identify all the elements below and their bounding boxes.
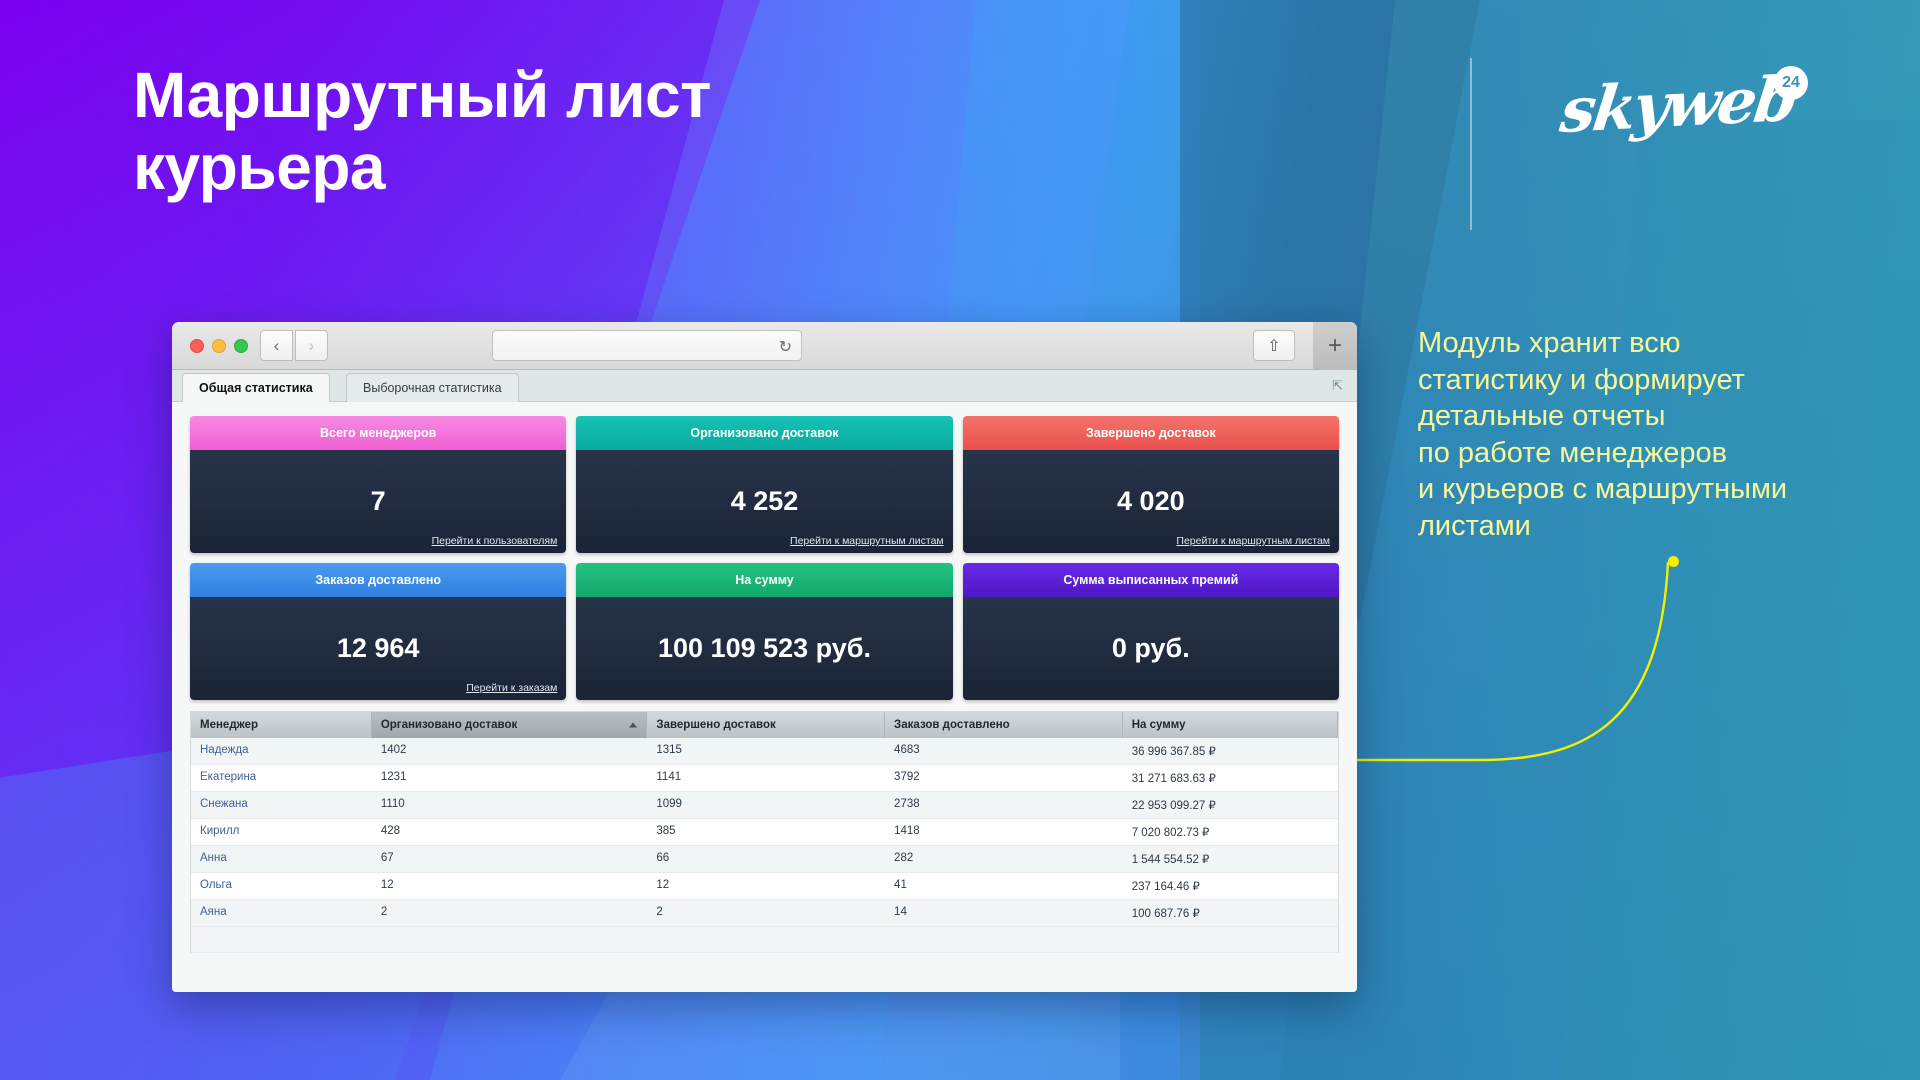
table-cell-amount: 237 164.46 ₽: [1123, 873, 1338, 899]
table-cell-orders: 1418: [885, 819, 1123, 845]
table-cell-amount: 22 953 099.27 ₽: [1123, 792, 1338, 818]
table-cell-organized: 1231: [372, 765, 648, 791]
annotation-line-5: и курьеров с маршрутными: [1418, 471, 1918, 508]
stat-card-total-amount[interactable]: На сумму 100 109 523 руб.: [576, 563, 952, 700]
stat-card-value: 100 109 523 руб.: [658, 633, 871, 664]
table-column-amount[interactable]: На сумму: [1123, 712, 1338, 738]
table-row[interactable]: Надежда14021315468336 996 367.85 ₽: [191, 738, 1338, 765]
table-cell-organized: 428: [372, 819, 648, 845]
table-row[interactable]: Ольга121241237 164.46 ₽: [191, 873, 1338, 900]
maximize-window-button[interactable]: [234, 339, 248, 353]
stat-card-organized-deliveries[interactable]: Организовано доставок 4 252 Перейти к ма…: [576, 416, 952, 553]
brand-logo-badge: 24: [1774, 66, 1808, 100]
stat-card-body: 100 109 523 руб.: [576, 597, 952, 700]
table-cell-organized: 2: [372, 900, 648, 926]
table-cell-amount: 31 271 683.63 ₽: [1123, 765, 1338, 791]
table-cell-manager: Кирилл: [191, 819, 372, 845]
table-cell-completed: 1099: [647, 792, 885, 818]
new-tab-button[interactable]: +: [1313, 322, 1357, 369]
tab-general-statistics[interactable]: Общая статистика: [182, 373, 330, 402]
stat-card-header: Всего менеджеров: [190, 416, 566, 450]
page-content: Всего менеджеров 7 Перейти к пользовател…: [172, 402, 1357, 992]
table-cell-organized: 12: [372, 873, 648, 899]
stat-card-body: 4 020 Перейти к маршрутным листам: [963, 450, 1339, 553]
stat-card-body: 12 964 Перейти к заказам: [190, 597, 566, 700]
table-cell-manager: Екатерина: [191, 765, 372, 791]
table-row[interactable]: Кирилл42838514187 020 802.73 ₽: [191, 819, 1338, 846]
navigation-buttons: ‹ ›: [260, 330, 328, 361]
stat-card-value: 0 руб.: [1112, 633, 1190, 664]
table-cell-completed: 66: [647, 846, 885, 872]
stat-card-body: 0 руб.: [963, 597, 1339, 700]
table-cell-orders: 282: [885, 846, 1123, 872]
table-column-completed-deliveries[interactable]: Завершено доставок: [647, 712, 885, 738]
table-cell-manager: Снежана: [191, 792, 372, 818]
managers-table: Менеджер Организовано доставок Завершено…: [190, 711, 1339, 953]
table-cell-completed: 1141: [647, 765, 885, 791]
annotation-line-2: статистику и формирует: [1418, 362, 1918, 399]
page-title-line-1: Маршрутный лист: [133, 60, 993, 132]
stat-card-body: 7 Перейти к пользователям: [190, 450, 566, 553]
table-cell-orders: 3792: [885, 765, 1123, 791]
table-row[interactable]: Екатерина12311141379231 271 683.63 ₽: [191, 765, 1338, 792]
stat-card-completed-deliveries[interactable]: Завершено доставок 4 020 Перейти к маршр…: [963, 416, 1339, 553]
stat-card-header: Сумма выписанных премий: [963, 563, 1339, 597]
pin-icon[interactable]: ⇱: [1332, 378, 1343, 394]
table-cell-organized: 67: [372, 846, 648, 872]
table-row[interactable]: Снежана11101099273822 953 099.27 ₽: [191, 792, 1338, 819]
tab-strip: Общая статистика Выборочная статистика ⇱: [172, 370, 1357, 402]
table-cell-orders: 2738: [885, 792, 1123, 818]
stat-card-bonuses-amount[interactable]: Сумма выписанных премий 0 руб.: [963, 563, 1339, 700]
stat-card-header: Организовано доставок: [576, 416, 952, 450]
annotation-line-1: Модуль хранит всю: [1418, 325, 1918, 362]
stat-card-value: 7: [371, 486, 386, 517]
share-icon[interactable]: ⇧: [1253, 330, 1295, 361]
table-cell-amount: 100 687.76 ₽: [1123, 900, 1338, 926]
stat-card-total-managers[interactable]: Всего менеджеров 7 Перейти к пользовател…: [190, 416, 566, 553]
stat-card-value: 4 252: [731, 486, 799, 517]
window-controls: [190, 339, 248, 353]
brand-logo: skyweb 24: [1562, 62, 1810, 167]
annotation-text: Модуль хранит всю статистику и формирует…: [1418, 325, 1918, 544]
table-cell-organized: 1110: [372, 792, 648, 818]
header-divider: [1470, 58, 1472, 230]
table-cell-orders: 41: [885, 873, 1123, 899]
table-cell-orders: 4683: [885, 738, 1123, 764]
page-title-line-2: курьера: [133, 132, 993, 204]
table-cell-completed: 1315: [647, 738, 885, 764]
brand-logo-wordmark: skyweb: [1557, 62, 1800, 147]
sort-ascending-icon: [629, 723, 637, 728]
stat-card-orders-delivered[interactable]: Заказов доставлено 12 964 Перейти к зака…: [190, 563, 566, 700]
table-column-manager[interactable]: Менеджер: [191, 712, 372, 738]
table-cell-completed: 385: [647, 819, 885, 845]
stat-card-body: 4 252 Перейти к маршрутным листам: [576, 450, 952, 553]
table-header-row: Менеджер Организовано доставок Завершено…: [191, 712, 1338, 738]
stat-card-value: 12 964: [337, 633, 420, 664]
table-cell-orders: 14: [885, 900, 1123, 926]
table-row[interactable]: Анна67662821 544 554.52 ₽: [191, 846, 1338, 873]
annotation-line-3: детальные отчеты: [1418, 398, 1918, 435]
table-cell-manager: Аяна: [191, 900, 372, 926]
annotation-line-4: по работе менеджеров: [1418, 435, 1918, 472]
stat-card-header: Заказов доставлено: [190, 563, 566, 597]
forward-button[interactable]: ›: [295, 330, 328, 361]
stat-card-header: Завершено доставок: [963, 416, 1339, 450]
table-column-label: Организовано доставок: [381, 719, 517, 731]
table-cell-amount: 36 996 367.85 ₽: [1123, 738, 1338, 764]
table-cell-completed: 2: [647, 900, 885, 926]
table-cell-organized: 1402: [372, 738, 648, 764]
stat-card-link[interactable]: Перейти к маршрутным листам: [1176, 535, 1330, 547]
table-footer: [191, 927, 1338, 953]
table-body: Надежда14021315468336 996 367.85 ₽Екатер…: [191, 738, 1338, 927]
table-column-orders-delivered[interactable]: Заказов доставлено: [885, 712, 1123, 738]
browser-toolbar: ‹ › ↻ ⇧ +: [172, 322, 1357, 370]
table-cell-amount: 7 020 802.73 ₽: [1123, 819, 1338, 845]
stat-card-link[interactable]: Перейти к заказам: [466, 682, 557, 694]
stat-card-link[interactable]: Перейти к пользователям: [432, 535, 558, 547]
reload-icon[interactable]: ↻: [779, 337, 792, 357]
table-cell-manager: Анна: [191, 846, 372, 872]
callout-dot-text: [1668, 556, 1679, 567]
stat-cards: Всего менеджеров 7 Перейти к пользовател…: [190, 416, 1339, 700]
stat-card-link[interactable]: Перейти к маршрутным листам: [790, 535, 944, 547]
table-cell-amount: 1 544 554.52 ₽: [1123, 846, 1338, 872]
address-bar[interactable]: ↻: [492, 330, 802, 361]
minimize-window-button[interactable]: [212, 339, 226, 353]
browser-window: ‹ › ↻ ⇧ + Общая статистика Выборочная ст…: [172, 322, 1357, 992]
table-cell-manager: Надежда: [191, 738, 372, 764]
table-cell-manager: Ольга: [191, 873, 372, 899]
table-row[interactable]: Аяна2214100 687.76 ₽: [191, 900, 1338, 927]
tab-selective-statistics[interactable]: Выборочная статистика: [346, 373, 519, 402]
close-window-button[interactable]: [190, 339, 204, 353]
table-cell-completed: 12: [647, 873, 885, 899]
page-title: Маршрутный лист курьера: [133, 60, 993, 203]
back-button[interactable]: ‹: [260, 330, 293, 361]
stat-card-header: На сумму: [576, 563, 952, 597]
table-column-organized-deliveries[interactable]: Организовано доставок: [372, 712, 648, 738]
stat-card-value: 4 020: [1117, 486, 1185, 517]
